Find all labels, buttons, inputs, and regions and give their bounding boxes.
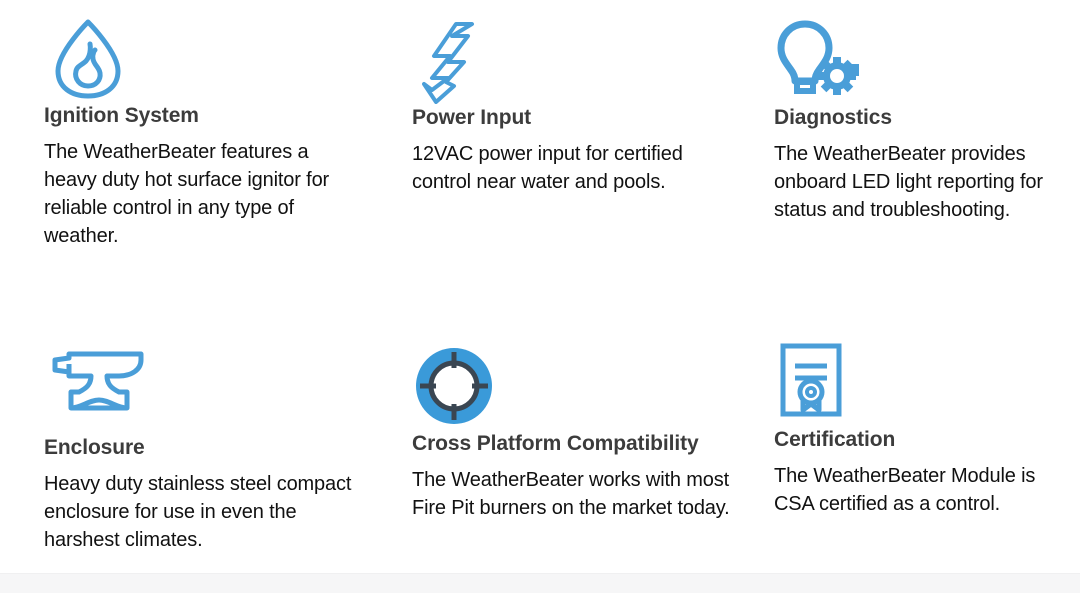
page-bottom-band [0,573,1080,593]
feature-title: Ignition System [44,104,364,127]
crosshair-target-icon [412,336,742,432]
feature-title: Cross Platform Compatibility [412,432,742,455]
feature-description: The WeatherBeater works with most Fire P… [412,466,742,522]
feature-title: Power Input [412,106,742,129]
feature-description: 12VAC power input for certified control … [412,140,742,196]
flame-icon [44,18,364,104]
certificate-icon [774,336,1074,428]
feature-description: The WeatherBeater provides onboard LED l… [774,140,1074,224]
feature-card-power-input: Power Input 12VAC power input for certif… [412,18,742,196]
feature-grid: Ignition System The WeatherBeater featur… [0,0,1080,573]
feature-title: Diagnostics [774,106,1074,129]
feature-card-ignition-system: Ignition System The WeatherBeater featur… [44,18,364,250]
lightning-bolt-icon [412,18,742,106]
feature-description: The WeatherBeater features a heavy duty … [44,138,364,250]
feature-card-enclosure: Enclosure Heavy duty stainless steel com… [44,336,364,554]
feature-card-cross-platform-compatibility: Cross Platform Compatibility The Weather… [412,336,742,522]
feature-card-diagnostics: Diagnostics The WeatherBeater provides o… [774,18,1074,224]
lightbulb-gear-icon [774,18,1074,106]
feature-description: Heavy duty stainless steel compact enclo… [44,470,364,554]
feature-title: Certification [774,428,1074,451]
feature-card-certification: Certification The WeatherBeater Module i… [774,336,1074,518]
anvil-icon [44,336,364,436]
feature-title: Enclosure [44,436,364,459]
feature-description: The WeatherBeater Module is CSA certifie… [774,462,1074,518]
